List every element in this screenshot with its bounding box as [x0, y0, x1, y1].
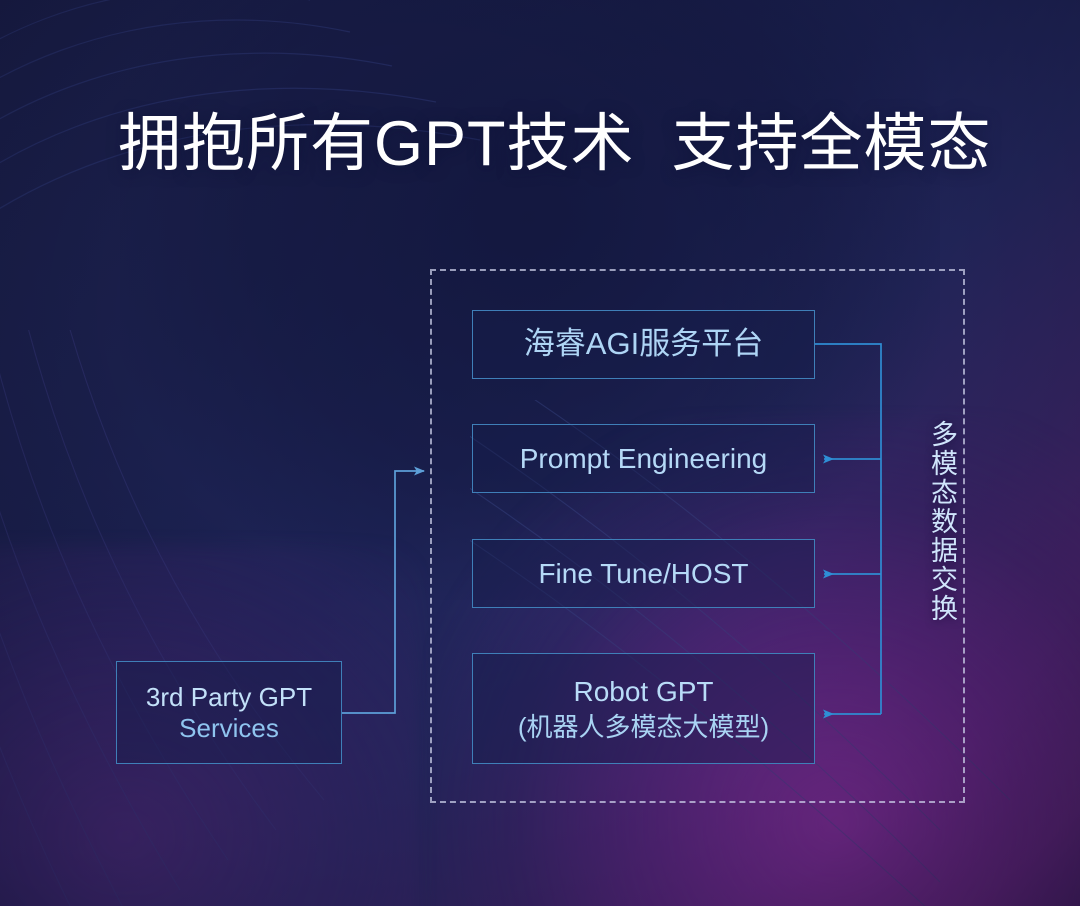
node-label-line2: Services [179, 713, 279, 744]
node-label-line2: (机器人多模态大模型) [518, 712, 769, 743]
node-label-line1: 海睿AGI服务平台 [524, 326, 763, 363]
node-fine-tune-host[interactable]: Fine Tune/HOST [472, 539, 815, 608]
slide-canvas: 拥抱所有GPT技术 支持全模态 海睿AGI服务 [0, 0, 1080, 906]
node-third-party-gpt-services[interactable]: 3rd Party GPT Services [116, 661, 342, 764]
node-haorui-agi-platform[interactable]: 海睿AGI服务平台 [472, 310, 815, 379]
node-label-line1: Prompt Engineering [520, 442, 767, 475]
node-label-line1: Fine Tune/HOST [538, 557, 748, 590]
page-title: 拥抱所有GPT技术 支持全模态 [118, 108, 992, 180]
vertical-label-multimodal-data-exchange: 多模态数据交换 [915, 420, 957, 623]
node-label-line1: 3rd Party GPT [146, 682, 312, 713]
arc-pattern-bottom-left [0, 330, 450, 906]
node-prompt-engineering[interactable]: Prompt Engineering [472, 424, 815, 493]
node-robot-gpt[interactable]: Robot GPT (机器人多模态大模型) [472, 653, 815, 764]
node-label-line1: Robot GPT [573, 675, 713, 708]
